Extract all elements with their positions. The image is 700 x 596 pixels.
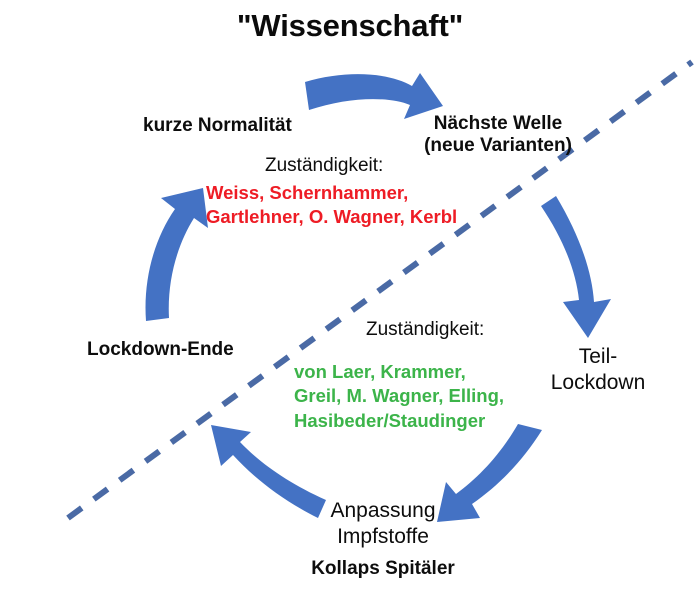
node-label-teil-lockdown-line1: Teil-: [523, 344, 673, 370]
arrow-right: [541, 196, 611, 338]
node-label-kurze-normalitaet: kurze Normalität: [143, 115, 292, 137]
arrow-left: [146, 188, 208, 321]
node-label-naechste-welle-line1: Nächste Welle: [418, 113, 578, 135]
group-names-lower: von Laer, Krammer, Greil, M. Wagner, Ell…: [294, 360, 504, 433]
node-label-lockdown-ende: Lockdown-Ende: [87, 339, 234, 361]
group-names-upper-line2: Gartlehner, O. Wagner, Kerbl: [206, 205, 457, 229]
group-names-lower-line2: Greil, M. Wagner, Elling,: [294, 384, 504, 408]
group-names-upper: Weiss, Schernhammer, Gartlehner, O. Wagn…: [206, 181, 457, 229]
group-names-lower-line3: Hasibeder/Staudinger: [294, 409, 504, 433]
node-label-naechste-welle: Nächste Welle (neue Varianten): [418, 113, 578, 158]
node-label-teil-lockdown: Teil- Lockdown: [523, 344, 673, 397]
diagram-canvas: "Wissenschaft" kurze Normalität Nächste …: [0, 0, 700, 596]
node-label-naechste-welle-line2: (neue Varianten): [418, 135, 578, 157]
node-label-anpassung-line2: Impfstoffe: [293, 524, 473, 550]
group-names-lower-line1: von Laer, Krammer,: [294, 360, 504, 384]
node-label-kollaps-spitaeler: Kollaps Spitäler: [293, 558, 473, 580]
group-heading-upper: Zuständigkeit:: [265, 155, 383, 177]
node-label-anpassung-impfstoffe: Anpassung Impfstoffe: [293, 498, 473, 551]
node-label-teil-lockdown-line2: Lockdown: [523, 370, 673, 396]
group-heading-lower: Zuständigkeit:: [366, 319, 484, 341]
page-title: "Wissenschaft": [0, 8, 700, 45]
node-label-anpassung-line1: Anpassung: [293, 498, 473, 524]
group-names-upper-line1: Weiss, Schernhammer,: [206, 181, 457, 205]
